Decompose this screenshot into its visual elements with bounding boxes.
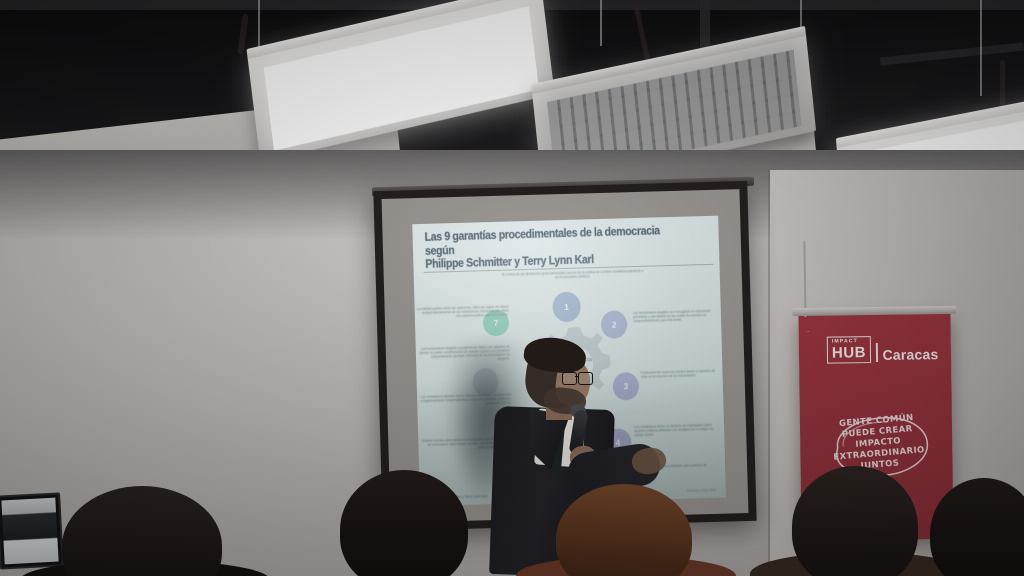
presentation-room-photo: Las 9 garantías procedimentales de la de… [0,0,1024,576]
eyeglasses-icon [562,372,592,383]
slide-title-line1: Las 9 garantías procedimentales de la de… [424,225,659,257]
audience-head-4 [792,466,918,576]
light-hanger-wire [600,0,602,46]
impact-hub-logo: IMPACT HUB Caracas [827,335,939,364]
slide-corner-credit: Schmitter y Karl, 1991 [686,488,716,493]
impact-hub-city: Caracas [882,346,938,363]
logo-separator [876,343,878,362]
laptop-screen [0,492,64,569]
impact-hub-logo-box: IMPACT HUB [827,336,871,364]
eyeglass-bridge [575,376,578,377]
laptop-display [1,498,58,565]
impact-hub-logo-hub: HUB [832,345,866,360]
light-hanger-wire [980,0,982,96]
eyeglass-lens [562,372,577,385]
eyeglass-lens [578,372,593,385]
banner-top-bar [792,306,956,316]
slide-bubble-2: 2 [601,310,628,339]
banner-side-code: ! [803,331,811,333]
slide-text-right-1: Los funcionarios elegidos son escogidos … [633,310,717,324]
slide-top-text: El control de las decisiones gubernament… [500,270,646,282]
wall-corner [768,170,770,576]
banner-tagline: GENTE COMÚN PUEDE CREAR IMPACTO EXTRAORD… [822,412,934,476]
slide-bubble-1: 1 [552,292,581,323]
